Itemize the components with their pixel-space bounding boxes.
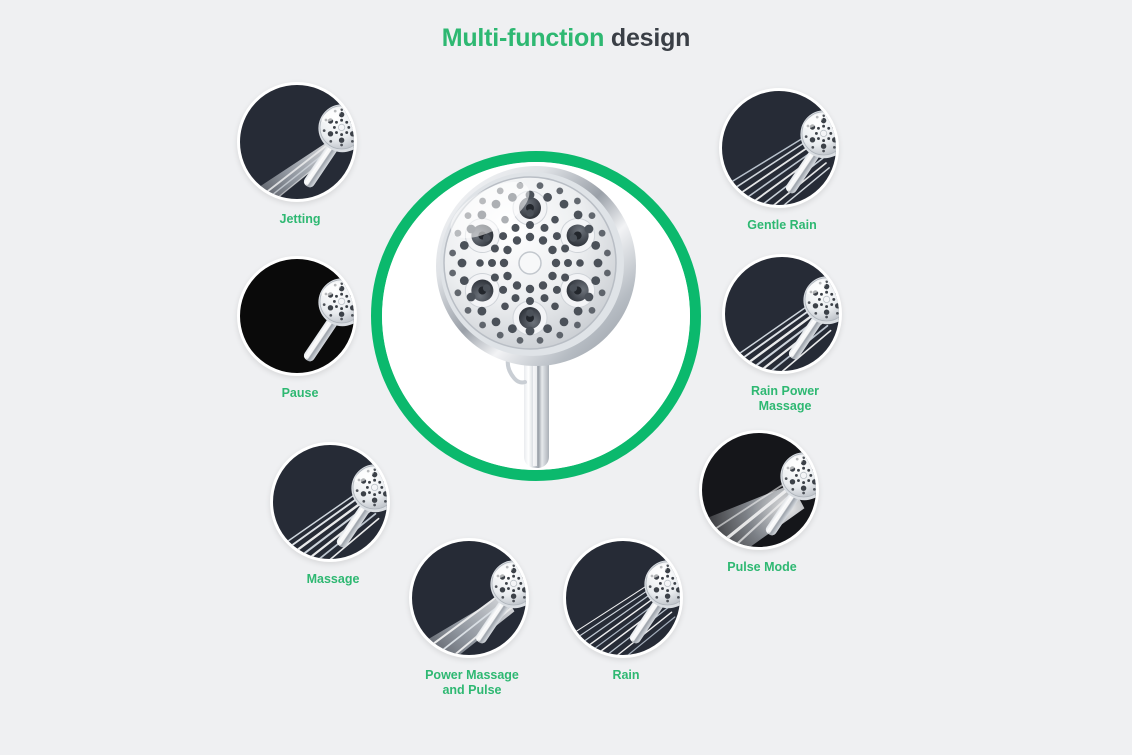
shower-head-illustration — [382, 162, 690, 470]
mode-label-rain: Rain — [563, 668, 689, 683]
center-shower-head — [382, 162, 690, 470]
mode-label-gentle-rain: Gentle Rain — [719, 218, 845, 233]
mode-label-power-massage-and-pulse: Power Massage and Pulse — [409, 668, 535, 698]
shower-head-thumb-illustration — [722, 91, 839, 208]
mode-thumbnail-power-massage-and-pulse[interactable]: Power Massage and Pulse — [409, 538, 535, 698]
shower-gentle-rain-icon[interactable] — [719, 88, 839, 208]
mode-thumbnail-rain-power-massage[interactable]: Rain Power Massage — [722, 254, 848, 414]
mode-thumbnail-jetting[interactable]: Jetting — [237, 82, 363, 227]
shower-power-massage-icon[interactable] — [409, 538, 529, 658]
shower-head-thumb-illustration — [725, 257, 842, 374]
page-title-rest: design — [611, 24, 690, 52]
mode-label-jetting: Jetting — [237, 212, 363, 227]
shower-rain-icon[interactable] — [563, 538, 683, 658]
shower-head-thumb-illustration — [702, 433, 819, 550]
shower-head-thumb-illustration — [412, 541, 529, 658]
mode-thumbnail-pause[interactable]: Pause — [237, 256, 363, 401]
mode-label-pause: Pause — [237, 386, 363, 401]
center-hero-circle — [371, 151, 701, 481]
shower-massage-icon[interactable] — [270, 442, 390, 562]
shower-rain-power-icon[interactable] — [722, 254, 842, 374]
multi-function-design-diagram: Multi-function design — [0, 0, 1132, 755]
page-title-accent: Multi-function — [442, 24, 611, 52]
mode-label-rain-power-massage: Rain Power Massage — [722, 384, 848, 414]
mode-thumbnail-gentle-rain[interactable]: Gentle Rain — [719, 88, 845, 233]
shower-head-thumb-illustration — [240, 85, 357, 202]
mode-thumbnail-pulse-mode[interactable]: Pulse Mode — [699, 430, 825, 575]
shower-head-thumb-illustration — [240, 259, 357, 376]
shower-no-spray-icon[interactable] — [237, 256, 357, 376]
page-title: Multi-function design — [0, 22, 1132, 54]
mode-thumbnail-rain[interactable]: Rain — [563, 538, 689, 683]
mode-thumbnail-massage[interactable]: Massage — [270, 442, 396, 587]
mode-label-massage: Massage — [270, 572, 396, 587]
shower-spray-icon[interactable] — [237, 82, 357, 202]
mode-label-pulse-mode: Pulse Mode — [699, 560, 825, 575]
shower-pulse-icon[interactable] — [699, 430, 819, 550]
shower-head-thumb-illustration — [566, 541, 683, 658]
shower-head-thumb-illustration — [273, 445, 390, 562]
